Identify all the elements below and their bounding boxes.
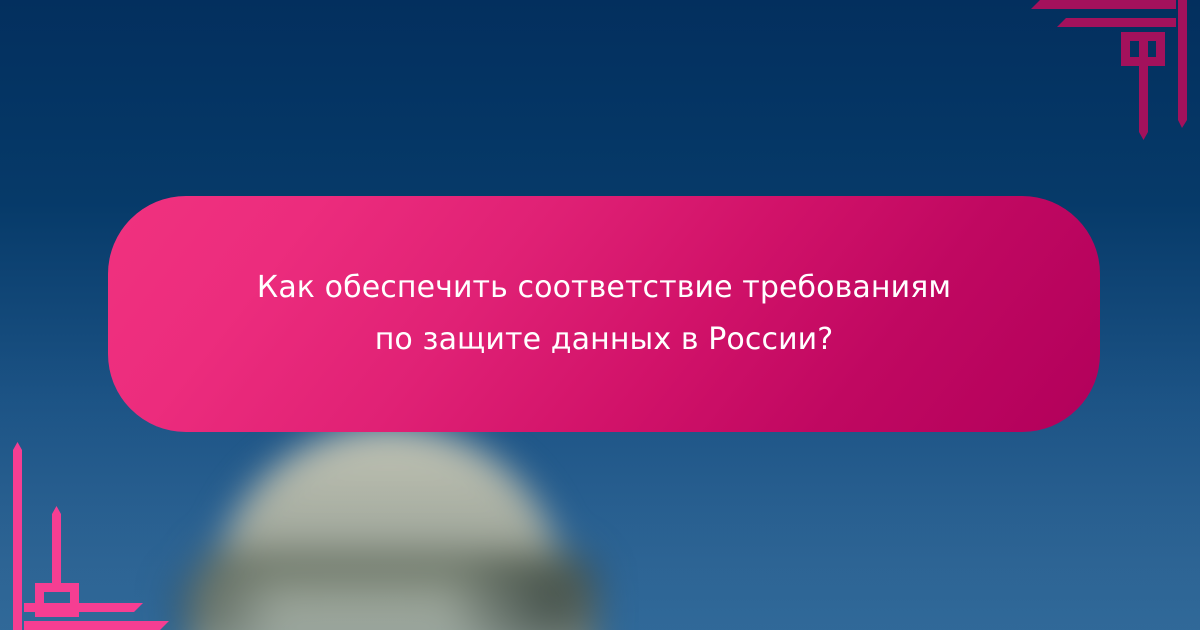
corner-bracket-bottom-left <box>0 430 200 630</box>
page-title: Как обеспечить соответствие требованиям … <box>257 262 951 366</box>
headline-card: Как обеспечить соответствие требованиям … <box>108 196 1100 432</box>
corner-bracket-top-right <box>1000 0 1200 140</box>
social-card-canvas: Как обеспечить соответствие требованиям … <box>0 0 1200 630</box>
